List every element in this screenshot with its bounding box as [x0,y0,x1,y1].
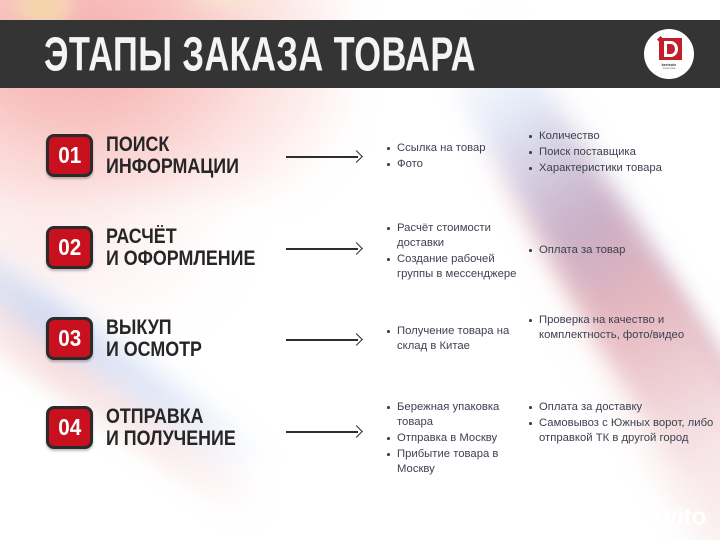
step-01-detail-column-b: Количество Поиск поставщика Характеристи… [528,129,714,177]
arrow-head-01 [350,150,363,163]
avito-dot-4 [631,520,636,525]
step-title-02-line1: РАСЧЁТ [106,225,177,248]
avito-watermark: Avito [622,505,706,530]
list-item: Характеристики товара [528,161,714,176]
company-logo: bertsole логистика [644,29,694,79]
step-title-04-line2: И ПОЛУЧЕНИЕ [106,428,236,450]
step-02-detail-column-b: Оплата за товар [528,243,714,259]
logo-mark-icon [656,38,682,62]
header-bar: ЭТАПЫ ЗАКАЗА ТОВАРА bertsole логистика [0,20,720,88]
list-item: Поиск поставщика [528,145,714,160]
step-number-badge-04: 04 [46,406,93,449]
logo-brand-text: bertsole логистика [662,63,677,70]
step-number-badge-03: 03 [46,317,93,360]
list-item: Оплата за доставку [528,400,714,415]
step-number-label-04: 04 [58,416,81,439]
step-04-detail-column-b: Оплата за доставку Самовывоз с Южных вор… [528,400,714,447]
arrow-shaft-01 [286,156,358,158]
avito-wordmark: Avito [647,505,706,530]
step-title-01: ПОИСК ИНФОРМАЦИИ [106,134,239,178]
step-number-badge-02: 02 [46,226,93,269]
logo-tagline: логистика [662,67,677,70]
step-heading-03: 03 ВЫКУП И ОСМОТР [46,317,219,361]
step-heading-01: 01 ПОИСК ИНФОРМАЦИИ [46,134,262,178]
step-01-detail-column-a: Ссылка на товар Фото [386,141,526,173]
arrow-shaft-03 [286,339,358,341]
step-03-bullet-list-a: Получение товара на склад в Китае [386,324,526,354]
arrow-head-02 [350,242,363,255]
step-title-03-line2: И ОСМОТР [106,339,202,361]
list-item: Самовывоз с Южных ворот, либо отправкой … [528,416,714,446]
page-title: ЭТАПЫ ЗАКАЗА ТОВАРА [44,30,476,78]
flow-arrow-icon-03 [286,334,366,346]
step-04-detail-column-a: Бережная упаковка товара Отправка в Моск… [386,400,526,478]
avito-dots-icon [622,509,643,527]
step-number-badge-01: 01 [46,134,93,177]
step-title-01-line1: ПОИСК [106,133,169,156]
step-number-label-02: 02 [58,236,81,259]
step-02-bullet-list-a: Расчёт стоимости доставки Создание рабоч… [386,221,526,282]
list-item: Расчёт стоимости доставки [386,221,526,251]
steps-list: 01 ПОИСК ИНФОРМАЦИИ Ссылка на товар Фото… [0,88,720,540]
step-title-02: РАСЧЁТ И ОФОРМЛЕНИЕ [106,226,255,270]
step-number-label-01: 01 [58,144,81,167]
step-01-bullet-list-b: Количество Поиск поставщика Характеристи… [528,129,714,176]
step-title-02-line2: И ОФОРМЛЕНИЕ [106,248,255,270]
step-01-bullet-list-a: Ссылка на товар Фото [386,141,526,172]
list-item: Количество [528,129,714,144]
arrow-head-03 [350,333,363,346]
list-item: Фото [386,157,526,172]
list-item: Проверка на качество и комплектность, фо… [528,313,714,343]
list-item: Отправка в Москву [386,431,526,446]
step-heading-02: 02 РАСЧЁТ И ОФОРМЛЕНИЕ [46,226,282,270]
step-04-bullet-list-a: Бережная упаковка товара Отправка в Моск… [386,400,526,477]
list-item: Прибытие товара в Москву [386,447,526,477]
step-heading-04: 04 ОТПРАВКА И ПОЛУЧЕНИЕ [46,406,259,450]
step-03-detail-column-a: Получение товара на склад в Китае [386,324,526,355]
step-02-detail-column-a: Расчёт стоимости доставки Создание рабоч… [386,221,526,283]
arrow-head-04 [350,425,363,438]
step-title-03-line1: ВЫКУП [106,316,172,339]
list-item: Получение товара на склад в Китае [386,324,526,354]
avito-dot-3 [635,513,642,520]
logo-letter-b-shape [664,41,678,57]
flow-arrow-icon-04 [286,426,366,438]
list-item: Ссылка на товар [386,141,526,156]
step-03-bullet-list-b: Проверка на качество и комплектность, фо… [528,313,714,343]
step-title-03: ВЫКУП И ОСМОТР [106,317,202,361]
flow-arrow-icon-01 [286,151,366,163]
step-title-01-line2: ИНФОРМАЦИИ [106,156,239,178]
flow-arrow-icon-02 [286,243,366,255]
list-item: Бережная упаковка товара [386,400,526,430]
step-03-detail-column-b: Проверка на качество и комплектность, фо… [528,313,714,344]
step-title-04: ОТПРАВКА И ПОЛУЧЕНИЕ [106,406,236,450]
list-item: Оплата за товар [528,243,714,258]
step-02-bullet-list-b: Оплата за товар [528,243,714,258]
avito-dot-2 [629,509,634,514]
arrow-shaft-04 [286,431,358,433]
arrow-shaft-02 [286,248,358,250]
avito-dot-1 [622,516,630,524]
step-number-label-03: 03 [58,327,81,350]
list-item: Создание рабочей группы в мессенджере [386,252,526,282]
step-title-04-line1: ОТПРАВКА [106,405,204,428]
step-04-bullet-list-b: Оплата за доставку Самовывоз с Южных вор… [528,400,714,446]
